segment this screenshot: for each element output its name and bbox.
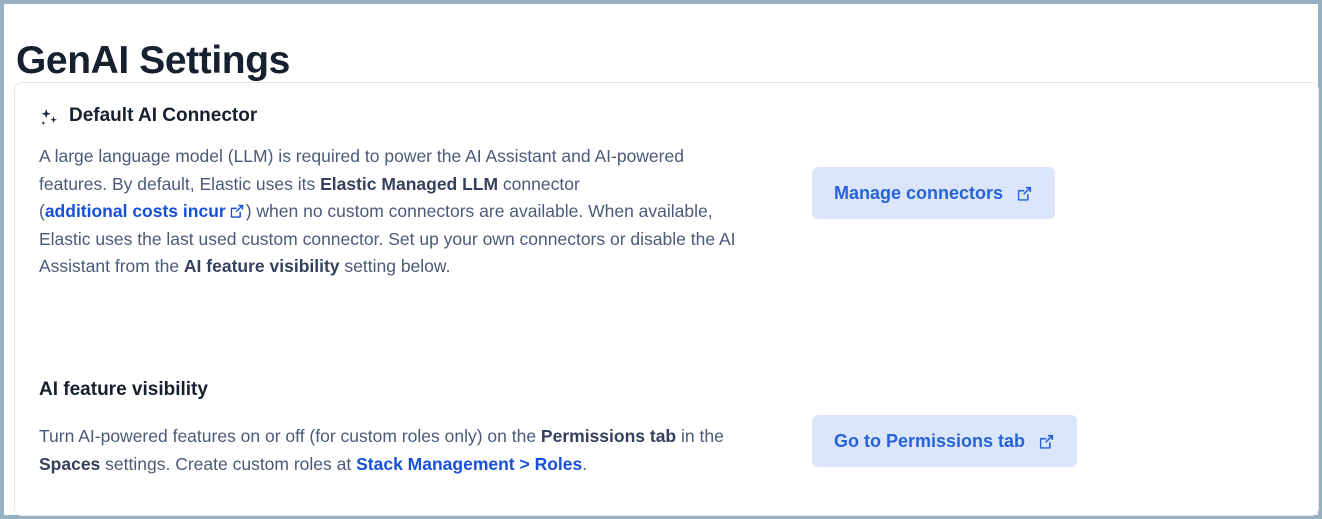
visibility-text-part1: Turn AI-powered features on or off (for … [39, 426, 541, 446]
default-ai-connector-description: A large language model (LLM) is required… [39, 143, 751, 281]
external-link-icon [1038, 433, 1055, 450]
connector-bold-ai-feature-visibility: AI feature visibility [184, 256, 340, 276]
stack-management-roles-link[interactable]: Stack Management > Roles [356, 454, 582, 474]
ai-feature-visibility-heading: AI feature visibility [39, 377, 1294, 403]
page-header: GenAI Settings [4, 4, 1318, 82]
visibility-paragraph: Turn AI-powered features on or off (for … [39, 423, 751, 478]
connector-text-part4: setting below. [340, 256, 451, 276]
connector-paragraph: A large language model (LLM) is required… [39, 143, 751, 281]
additional-costs-incur-link[interactable]: additional costs incur [45, 201, 246, 221]
visibility-text-part2: in the [676, 426, 724, 446]
go-to-permissions-tab-button-label: Go to Permissions tab [834, 431, 1025, 452]
default-ai-connector-heading-label: Default AI Connector [69, 103, 257, 129]
visibility-text-part4: . [582, 454, 587, 474]
ai-feature-visibility-description: Turn AI-powered features on or off (for … [39, 423, 751, 478]
go-to-permissions-tab-button[interactable]: Go to Permissions tab [812, 415, 1077, 467]
additional-costs-incur-link-label: additional costs incur [45, 201, 226, 221]
visibility-bold-permissions-tab: Permissions tab [541, 426, 676, 446]
default-ai-connector-heading: Default AI Connector [39, 103, 1294, 129]
external-link-icon [1016, 185, 1033, 202]
ai-feature-visibility-section: AI feature visibility Turn AI-powered fe… [15, 377, 1318, 478]
manage-connectors-button-label: Manage connectors [834, 183, 1003, 204]
external-link-icon [229, 200, 246, 217]
app-window: GenAI Settings Default AI Connector [0, 0, 1322, 519]
sparkles-icon [39, 107, 60, 128]
default-ai-connector-section: Default AI Connector A large language mo… [15, 103, 1318, 281]
manage-connectors-button[interactable]: Manage connectors [812, 167, 1055, 219]
genai-settings-panel: Default AI Connector A large language mo… [14, 82, 1319, 516]
visibility-bold-spaces: Spaces [39, 454, 100, 474]
ai-feature-visibility-heading-label: AI feature visibility [39, 377, 208, 403]
visibility-text-part3: settings. Create custom roles at [100, 454, 356, 474]
connector-bold-elastic-managed-llm: Elastic Managed LLM [320, 174, 498, 194]
page-title: GenAI Settings [16, 36, 290, 86]
